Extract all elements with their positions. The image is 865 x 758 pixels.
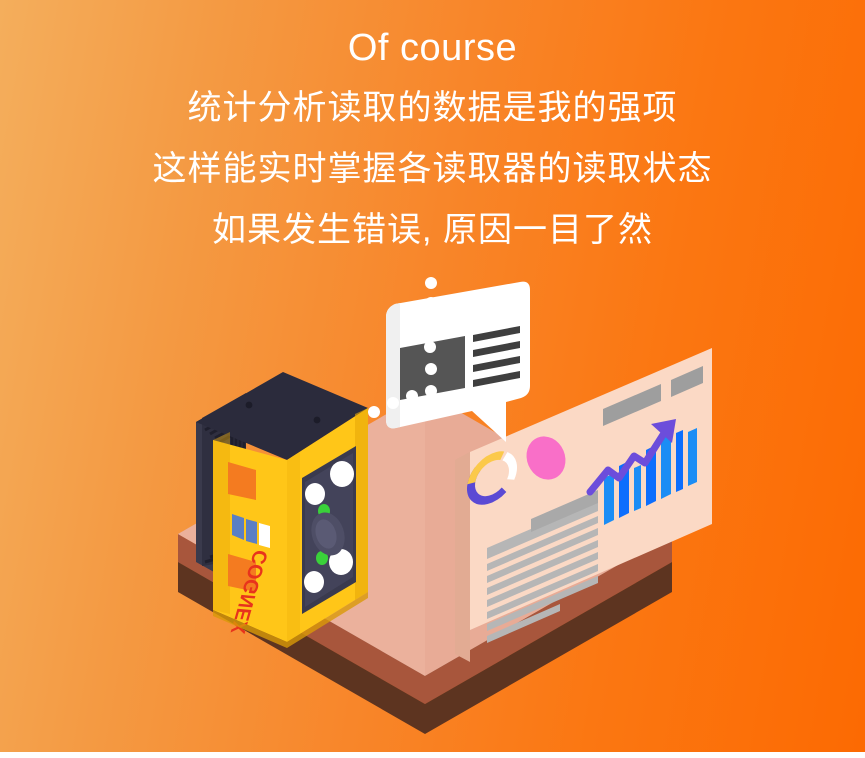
barcode-reader-device[interactable]: COGNEX — [196, 372, 368, 648]
headline-line-3: 这样能实时掌握各读取器的读取状态 — [0, 139, 865, 200]
reader-side-panel: COGNEX — [213, 432, 287, 642]
headline-line-2: 统计分析读取的数据是我的强项 — [0, 78, 865, 139]
illustration-area: COGNEX — [0, 262, 865, 758]
bottom-white-strip — [0, 752, 865, 758]
headline-line-4: 如果发生错误, 原因一目了然 — [0, 200, 865, 261]
headline-block: Of course 统计分析读取的数据是我的强项 这样能实时掌握各读取器的读取状… — [0, 0, 865, 261]
poster-canvas: Of course 统计分析读取的数据是我的强项 这样能实时掌握各读取器的读取状… — [0, 0, 865, 758]
headline-line-english: Of course — [0, 18, 865, 78]
